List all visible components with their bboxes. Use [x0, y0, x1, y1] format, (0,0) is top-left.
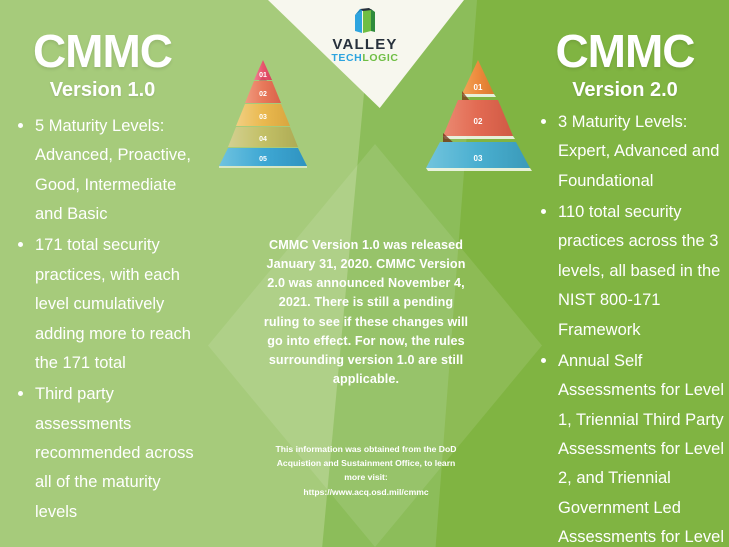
list-item: 5 Maturity Levels: Advanced, Proactive, …	[14, 112, 199, 229]
pyramid-segment-label: 05	[259, 156, 267, 163]
logo-tech-text: TECH	[331, 52, 362, 64]
left-panel-title: CMMC	[0, 28, 205, 74]
cube-icon	[354, 8, 376, 36]
source-url[interactable]: https://www.acq.osd.mil/cmmc	[268, 486, 464, 500]
pyramid-segment-label: 03	[474, 154, 483, 163]
pyramid-segment-label: 03	[259, 114, 267, 121]
source-text: This information was obtained from the D…	[276, 444, 457, 482]
list-item: 171 total security practices, with each …	[14, 231, 199, 378]
left-panel-header: CMMC Version 1.0	[0, 28, 205, 100]
list-item: Annual Self Assessments for Level 1, Tri…	[537, 347, 729, 547]
list-item: Third party assessments recommended acro…	[14, 380, 199, 527]
cmmc-v1-pyramid-chart: 01 02 03 04 05	[208, 58, 318, 168]
left-panel-subtitle: Version 1.0	[0, 80, 205, 100]
brand-logo[interactable]: VALLEY TECHLOGIC	[322, 8, 408, 64]
list-item: 110 total security practices across the …	[537, 198, 729, 345]
left-panel-bullet-list: 5 Maturity Levels: Advanced, Proactive, …	[14, 112, 199, 529]
logo-logic-text: LOGIC	[362, 52, 398, 64]
pyramid-segment-label: 02	[474, 117, 483, 126]
right-panel-subtitle: Version 2.0	[521, 80, 729, 100]
pyramid-segment-label: 01	[259, 72, 267, 79]
right-panel-header: CMMC Version 2.0	[521, 28, 729, 100]
right-panel-title: CMMC	[521, 28, 729, 74]
list-item: 3 Maturity Levels: Expert, Advanced and …	[537, 108, 729, 196]
logo-subwordmark: TECHLOGIC	[322, 53, 408, 64]
infographic-canvas: VALLEY TECHLOGIC CMMC Version 1.0 CMMC V…	[0, 0, 729, 547]
cmmc-v2-pyramid-chart: 01 02 03	[418, 58, 538, 174]
pyramid-segment-label: 04	[259, 136, 267, 143]
pyramid-segment-label: 02	[259, 91, 267, 98]
right-panel-bullet-list: 3 Maturity Levels: Expert, Advanced and …	[537, 108, 729, 547]
logo-wordmark: VALLEY	[322, 37, 408, 52]
pyramid-segment-label: 01	[474, 83, 483, 92]
center-source-block: This information was obtained from the D…	[268, 443, 464, 500]
center-note-text: CMMC Version 1.0 was released January 31…	[262, 236, 470, 389]
